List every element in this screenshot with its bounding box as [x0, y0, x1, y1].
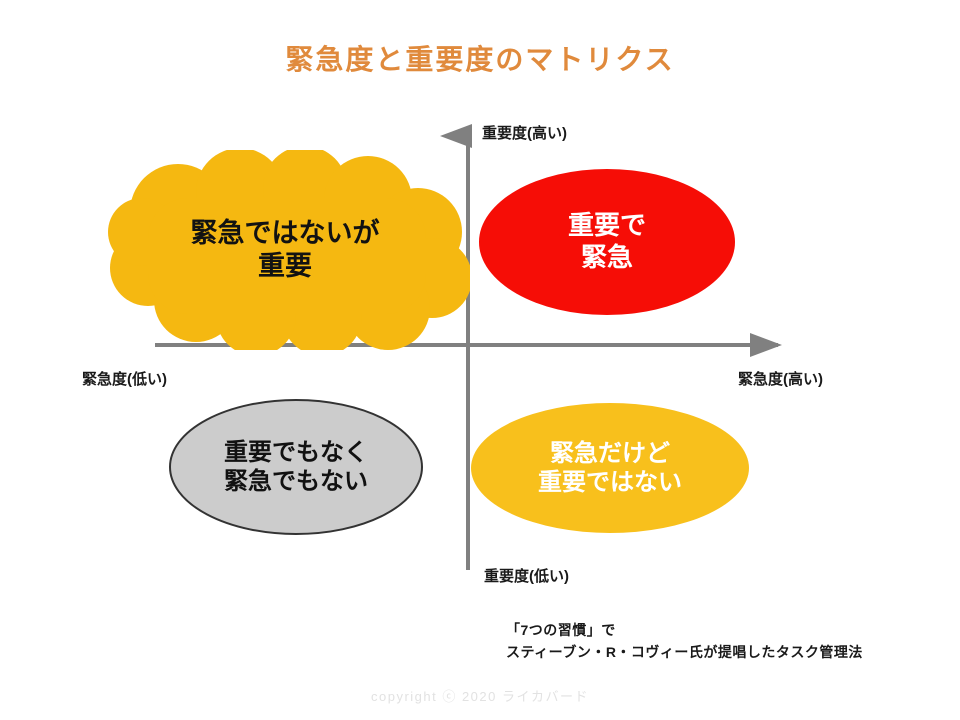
quadrant-label-important-and-urgent: 重要で 緊急: [478, 168, 736, 316]
axis-label-importance-low: 重要度(低い): [484, 565, 569, 586]
axis-label-urgency-low: 緊急度(低い): [82, 368, 167, 389]
axes-graphic: [0, 0, 960, 720]
quadrant-important-and-urgent[interactable]: 重要で 緊急: [478, 168, 736, 316]
quadrant-not-important-not-urgent[interactable]: 重要でもなく 緊急でもない: [168, 398, 424, 536]
quadrant-urgent-not-important[interactable]: 緊急だけど 重要ではない: [470, 402, 750, 534]
quadrant-label-important-not-urgent: 緊急ではないが 重要: [100, 150, 470, 356]
axis-label-importance-high: 重要度(高い): [482, 122, 567, 143]
source-caption: 「7つの習慣」で スティーブン・R・コヴィー氏が提唱したタスク管理法: [506, 620, 863, 663]
copyright-footer: copyright ⓒ 2020 ライカバード: [0, 686, 960, 705]
quadrant-label-not-important-not-urgent: 重要でもなく 緊急でもない: [168, 398, 424, 536]
slide-canvas: 緊急度と重要度のマトリクス 重要度(高い) 重要度(低い) 緊急度(低い) 緊急…: [0, 0, 960, 720]
quadrant-label-urgent-not-important: 緊急だけど 重要ではない: [470, 402, 750, 534]
page-title: 緊急度と重要度のマトリクス: [0, 38, 960, 78]
quadrant-important-not-urgent[interactable]: 緊急ではないが 重要: [100, 150, 470, 350]
axis-label-urgency-high: 緊急度(高い): [738, 368, 823, 389]
